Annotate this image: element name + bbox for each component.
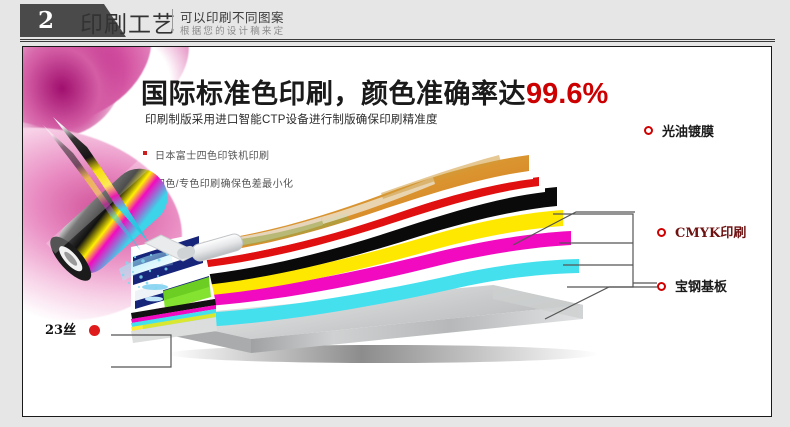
header-subtitle-secondary: 根据您的设计稿来定: [180, 23, 285, 37]
header-divider: [172, 9, 173, 33]
varnish-label: 光油镀膜: [662, 121, 714, 140]
header-rule: [20, 39, 775, 42]
cmyk-label: CMYK印刷: [675, 222, 746, 241]
cmyk-marker-dot: [657, 228, 666, 237]
section-title: 印刷工艺: [80, 5, 176, 39]
substrate-label: 宝钢基板: [675, 276, 727, 295]
section-header: 2 印刷工艺 可以印刷不同图案 根据您的设计稿来定: [0, 0, 790, 40]
varnish-marker-dot: [644, 126, 653, 135]
thickness-marker-dot: [89, 325, 100, 336]
thickness-label: 23丝: [45, 319, 76, 338]
product-detail-page: 2 印刷工艺 可以印刷不同图案 根据您的设计稿来定 国际标准色印刷，颜色准确率达…: [0, 0, 790, 427]
section-number: 2: [24, 6, 68, 35]
substrate-marker-dot: [657, 282, 666, 291]
